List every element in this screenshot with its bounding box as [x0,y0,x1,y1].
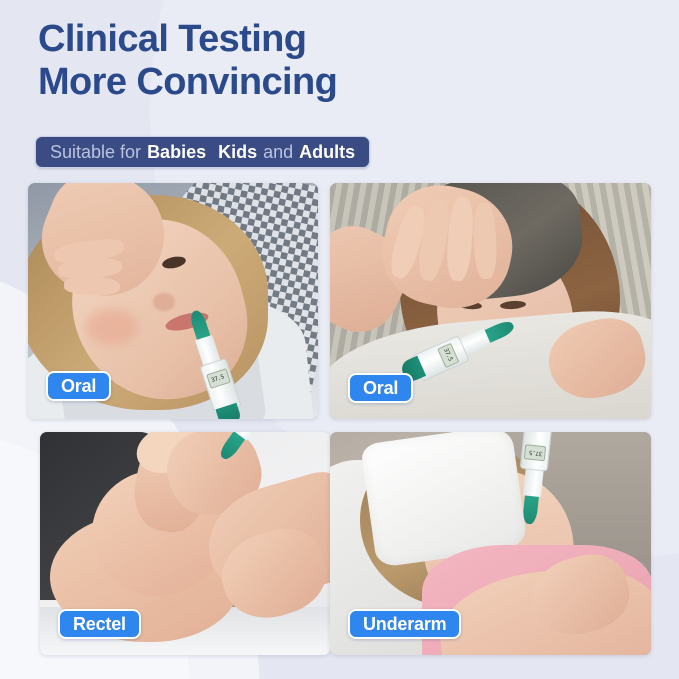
badge-conjunction: and [263,142,293,163]
use-case-card-oral-child[interactable]: 37.5 Oral [28,183,318,419]
card-label-rectal: Rectel [58,609,141,639]
use-case-card-underarm[interactable]: 37.5 Underarm [330,432,651,655]
card-label-oral-adult: Oral [348,373,413,403]
use-case-grid: 37.5 Oral [28,183,651,655]
card-label-oral-child: Oral [46,371,111,401]
badge-audience-kids: Kids [218,142,257,163]
headline-line-1: Clinical Testing [38,18,306,60]
badge-audience-adults: Adults [299,142,355,163]
badge-prefix-label: Suitable for [50,142,141,163]
use-case-card-oral-adult[interactable]: 37.5 Oral [330,183,651,419]
promo-banner: Clinical Testing More Convincing Suitabl… [0,0,679,679]
use-case-card-rectal-baby[interactable]: 37.5 Rectel [40,432,330,655]
thermometer-reading: 37.5 [210,373,225,384]
badge-audience-babies: Babies [147,142,206,163]
suitable-for-badge: Suitable for Babies Kids and Adults [35,136,370,168]
headline-line-2: More Convincing [38,61,337,104]
page-title: Clinical Testing More Convincing [38,18,337,103]
card-label-underarm: Underarm [348,609,461,639]
